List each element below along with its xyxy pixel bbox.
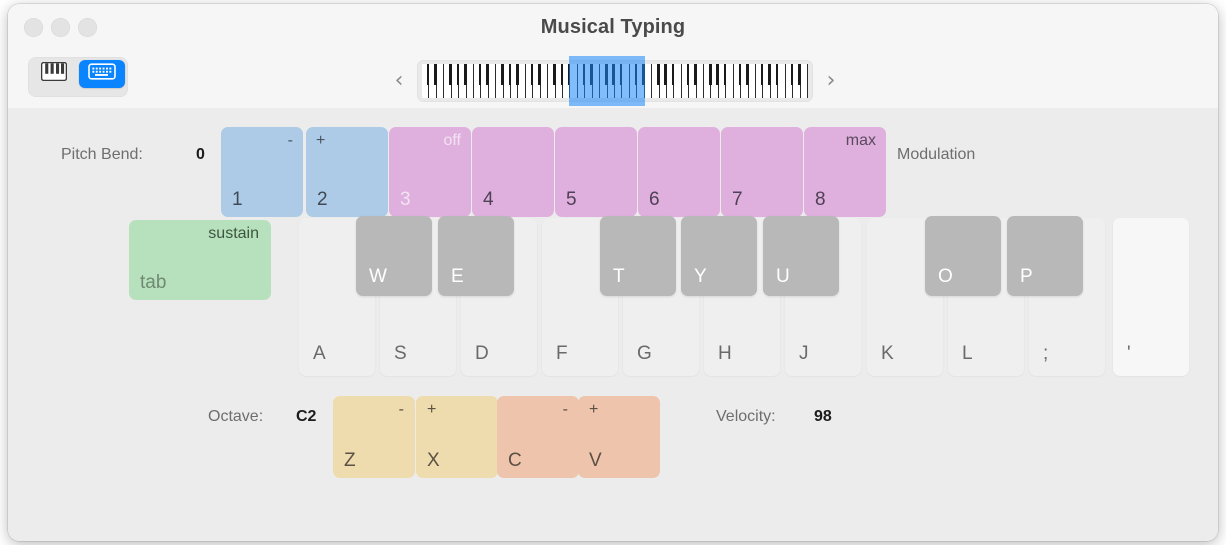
number-key-7[interactable]: 7 (721, 127, 803, 217)
black-key-cap: T (613, 267, 625, 286)
octave-key-function-label: - (399, 402, 404, 418)
white-key-cap: ' (1127, 344, 1131, 363)
mini-white-key (519, 64, 526, 98)
number-key-cap: 4 (483, 190, 494, 209)
modulation-label: Modulation (897, 146, 975, 164)
window-title: Musical Typing (8, 16, 1218, 39)
mini-white-key (489, 64, 496, 98)
black-key-W[interactable]: W (356, 216, 432, 296)
white-key-cap: ; (1043, 344, 1048, 363)
number-key-cap: 1 (232, 190, 243, 209)
black-key-cap: O (938, 267, 953, 286)
white-key-apostrophe[interactable]: ' (1113, 218, 1189, 376)
window-titlebar: Musical Typing (8, 4, 1218, 109)
number-key-cap: 8 (815, 190, 826, 209)
sustain-key[interactable]: sustain tab (129, 220, 271, 300)
mini-white-key (541, 64, 548, 98)
velocity-value: 98 (814, 408, 832, 426)
chevron-right-icon[interactable]: › (822, 70, 840, 92)
number-key-function-label: max (846, 133, 876, 149)
octave-key-function-label: - (563, 402, 568, 418)
musical-typing-window: Musical Typing (8, 4, 1218, 541)
number-key-cap: 6 (649, 190, 660, 209)
sustain-key-function: sustain (208, 226, 259, 242)
mini-white-key (749, 64, 756, 98)
number-key-8[interactable]: max8 (804, 127, 886, 217)
number-key-4[interactable]: 4 (472, 127, 554, 217)
number-key-6[interactable]: 6 (638, 127, 720, 217)
octave-key-function-label: + (589, 402, 598, 418)
octave-key-cap: Z (344, 451, 356, 470)
black-key-cap: P (1020, 267, 1033, 286)
sustain-key-cap: tab (140, 273, 166, 292)
number-key-function-label: off (444, 133, 462, 149)
mini-keyboard-selection[interactable] (569, 56, 644, 106)
number-key-3[interactable]: off3 (389, 127, 471, 217)
number-key-cap: 5 (566, 190, 577, 209)
octave-key-function-label: + (427, 402, 436, 418)
mini-white-key (801, 64, 808, 98)
black-key-cap: W (369, 267, 387, 286)
mini-white-key (437, 64, 444, 98)
black-key-cap: Y (694, 267, 707, 286)
pitch-bend-value: 0 (196, 146, 205, 164)
black-key-O[interactable]: O (925, 216, 1001, 296)
number-key-function-label: + (316, 133, 325, 149)
piano-keyboard-icon (41, 62, 67, 86)
musical-typing-body: Pitch Bend: 0 Modulation Octave: C2 Velo… (8, 108, 1218, 541)
number-key-cap: 2 (317, 190, 328, 209)
octave-key-cap: X (427, 451, 440, 470)
white-key-cap: H (718, 344, 732, 363)
velocity-label: Velocity: (716, 408, 776, 426)
black-key-Y[interactable]: Y (681, 216, 757, 296)
octave-key-X[interactable]: +X (416, 396, 498, 478)
white-key-cap: G (637, 344, 652, 363)
number-key-2[interactable]: +2 (306, 127, 388, 217)
number-key-cap: 7 (732, 190, 743, 209)
mini-white-key (674, 64, 681, 98)
keyboard-range-navigator[interactable]: ‹ › (390, 58, 850, 104)
mini-white-key (778, 64, 785, 98)
black-key-cap: E (451, 267, 464, 286)
octave-label: Octave: (208, 408, 263, 426)
mini-white-key (645, 64, 652, 98)
number-key-1[interactable]: -1 (221, 127, 303, 217)
white-key-cap: F (556, 344, 568, 363)
octave-key-cap: V (589, 451, 602, 470)
piano-mode-segment[interactable] (31, 60, 77, 88)
computer-keyboard-icon (88, 62, 116, 86)
octave-key-Z[interactable]: -Z (333, 396, 415, 478)
black-key-U[interactable]: U (763, 216, 839, 296)
typing-mode-segment[interactable] (79, 60, 125, 88)
input-mode-segmented-control[interactable] (28, 57, 128, 97)
number-key-cap: 3 (400, 190, 411, 209)
white-key-cap: J (799, 344, 809, 363)
white-key-cap: D (475, 344, 489, 363)
octave-key-V[interactable]: +V (578, 396, 660, 478)
white-key-cap: L (962, 344, 973, 363)
octave-value: C2 (296, 408, 316, 426)
octave-key-cap: C (508, 451, 522, 470)
black-key-P[interactable]: P (1007, 216, 1083, 296)
mini-keyboard-overview[interactable] (417, 60, 813, 102)
mini-white-key (726, 64, 733, 98)
black-key-T[interactable]: T (600, 216, 676, 296)
mini-white-key (697, 64, 704, 98)
black-key-cap: U (776, 267, 790, 286)
octave-key-C[interactable]: -C (497, 396, 579, 478)
pitch-bend-label: Pitch Bend: (61, 146, 143, 164)
mini-white-key (467, 64, 474, 98)
number-key-function-label: - (288, 133, 293, 149)
number-key-5[interactable]: 5 (555, 127, 637, 217)
chevron-left-icon[interactable]: ‹ (390, 70, 408, 92)
white-key-cap: K (881, 344, 894, 363)
white-key-cap: A (313, 344, 326, 363)
white-key-cap: S (394, 344, 407, 363)
black-key-E[interactable]: E (438, 216, 514, 296)
